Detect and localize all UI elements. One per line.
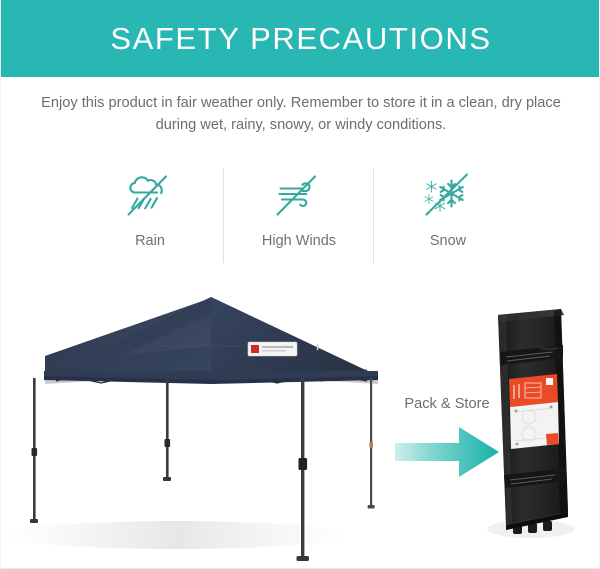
canopy-roof-right-half — [211, 297, 378, 376]
subtitle-text: Enjoy this product in fair weather only.… — [1, 92, 600, 136]
pack-store-label: Pack & Store — [387, 396, 507, 412]
canopy-leg-mid — [163, 378, 171, 481]
bag-product-label — [509, 374, 559, 449]
canopy-label-logo — [251, 345, 259, 353]
page-title: SAFETY PRECAUTIONS — [110, 21, 491, 57]
condition-item-rain: Rain — [76, 163, 224, 268]
canopy-label-patch — [248, 342, 297, 356]
canopy-ground-shadow — [6, 521, 346, 549]
canopy-leg-back-right — [368, 378, 375, 509]
product-stage — [1, 284, 600, 569]
condition-label: Snow — [430, 233, 466, 249]
wind-slash-icon — [268, 163, 330, 231]
canopy-leg-back-left — [30, 378, 38, 523]
condition-label: Rain — [135, 233, 165, 249]
safety-precautions-panel: SAFETY PRECAUTIONS Enjoy this product in… — [0, 0, 600, 569]
conditions-row: Rain High Winds — [1, 163, 600, 268]
storage-carry-bag — [487, 309, 575, 538]
canopy-vent-detail — [317, 344, 318, 350]
condition-item-snow: Snow — [374, 163, 522, 268]
condition-label: High Winds — [262, 233, 336, 249]
snowflake-slash-icon — [417, 163, 479, 231]
bag-label-red-square — [546, 378, 553, 385]
arrow-right-icon — [393, 425, 501, 479]
rain-cloud-slash-icon — [119, 163, 181, 231]
condition-item-high-winds: High Winds — [225, 163, 373, 268]
header-banner: SAFETY PRECAUTIONS — [1, 0, 600, 77]
